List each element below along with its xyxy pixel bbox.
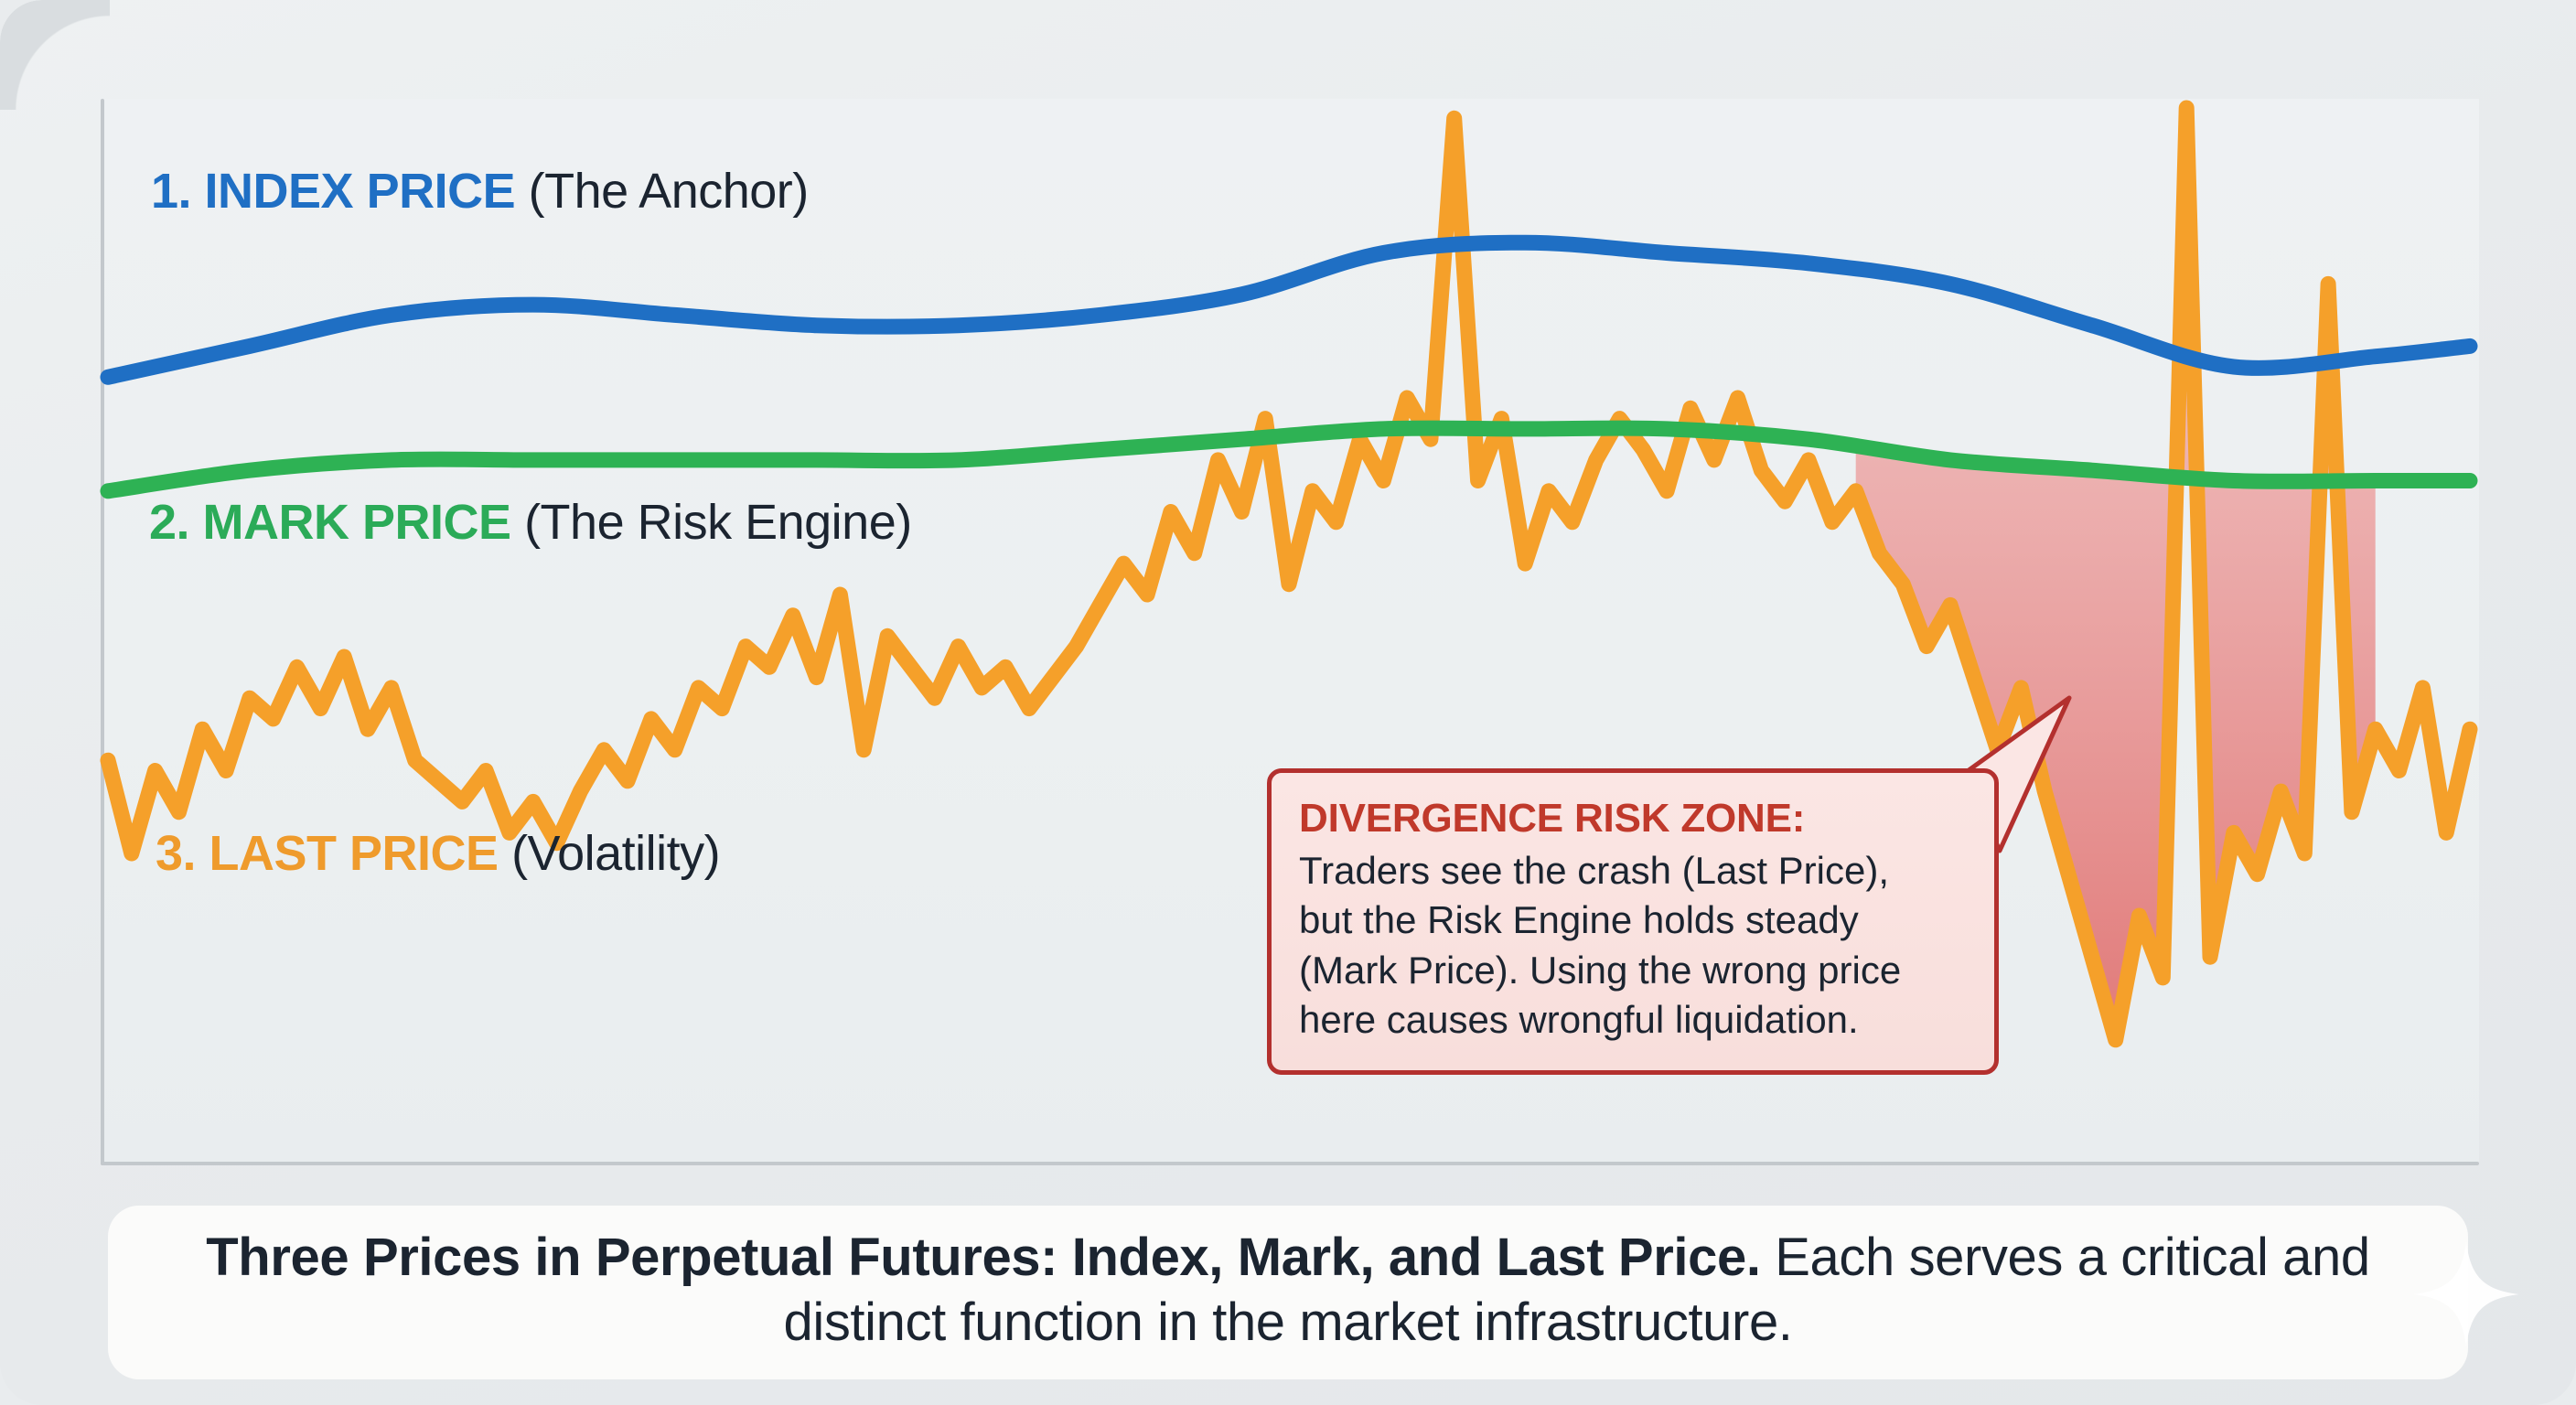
last-price-note: (Volatility) (511, 826, 720, 881)
caption-text: Three Prices in Perpetual Futures: Index… (206, 1228, 2369, 1352)
callout-line: Traders see the crash (Last Price), (1299, 846, 1967, 896)
callout-body: Traders see the crash (Last Price), but … (1299, 846, 1967, 1046)
callout-title: DIVERGENCE RISK ZONE: (1299, 797, 1967, 841)
sparkle-icon (2411, 1239, 2521, 1349)
series-label-index-price: 1. INDEX PRICE (The Anchor) (151, 163, 809, 220)
index-price-note: (The Anchor) (529, 164, 809, 219)
last-price-key: 3. LAST PRICE (156, 826, 499, 881)
series-label-mark-price: 2. MARK PRICE (The Risk Engine) (149, 494, 912, 551)
caption-lead: Three Prices in Perpetual Futures: Index… (206, 1228, 1760, 1287)
series-label-last-price: 3. LAST PRICE (Volatility) (156, 825, 720, 882)
infographic-card: 1. INDEX PRICE (The Anchor) 2. MARK PRIC… (0, 0, 2576, 1405)
divergence-risk-callout: DIVERGENCE RISK ZONE: Traders see the cr… (1267, 768, 1999, 1075)
caption-bar: Three Prices in Perpetual Futures: Index… (108, 1206, 2468, 1379)
index-price-key: 1. INDEX PRICE (151, 164, 515, 219)
index-price-line (108, 242, 2470, 377)
callout-line: (Mark Price). Using the wrong price (1299, 946, 1967, 996)
callout-line: but the Risk Engine holds steady (1299, 896, 1967, 946)
mark-price-key: 2. MARK PRICE (149, 495, 511, 550)
mark-price-note: (The Risk Engine) (524, 495, 912, 550)
callout-line: here causes wrongful liquidation. (1299, 995, 1967, 1046)
